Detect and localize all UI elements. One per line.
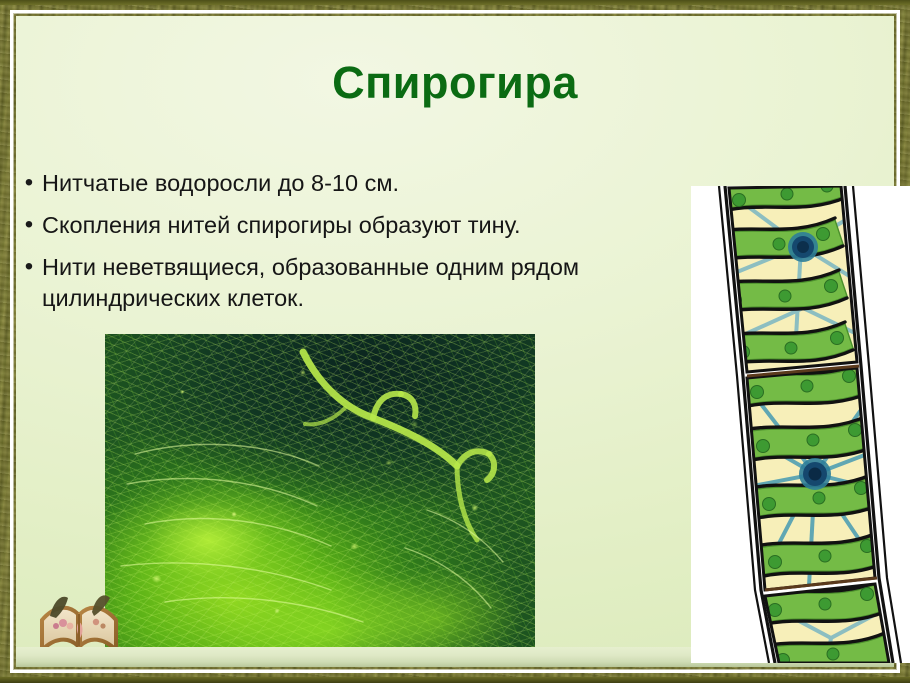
open-book-icon [36, 576, 122, 654]
list-item: • Нитчатые водоросли до 8-10 см. [16, 168, 706, 199]
list-item-text: Скопления нитей спирогиры образуют тину. [42, 210, 521, 241]
spirogyra-diagram-panel [691, 186, 910, 663]
nucleus [788, 232, 818, 262]
slide: Спирогира • Нитчатые водоросли до 8-10 с… [0, 0, 910, 683]
bullet-list: • Нитчатые водоросли до 8-10 см. • Скопл… [16, 168, 706, 325]
bullet-marker-icon: • [16, 252, 42, 282]
algae-photo [105, 334, 535, 656]
photo-vignette [105, 334, 535, 656]
list-item: • Нити неветвящиеся, образованные одним … [16, 252, 706, 314]
frame-top-edge [0, 0, 910, 5]
list-item-text: Нитчатые водоросли до 8-10 см. [42, 168, 399, 199]
nucleus [799, 458, 831, 490]
list-item-text: Нити неветвящиеся, образованные одним ря… [42, 252, 690, 314]
frame-bottom-edge [0, 677, 910, 683]
page-title: Спирогира [16, 60, 894, 105]
list-item: • Скопления нитей спирогиры образуют тин… [16, 210, 706, 241]
bullet-marker-icon: • [16, 210, 42, 240]
spirogyra-filament-diagram [691, 186, 910, 663]
bullet-marker-icon: • [16, 168, 42, 198]
